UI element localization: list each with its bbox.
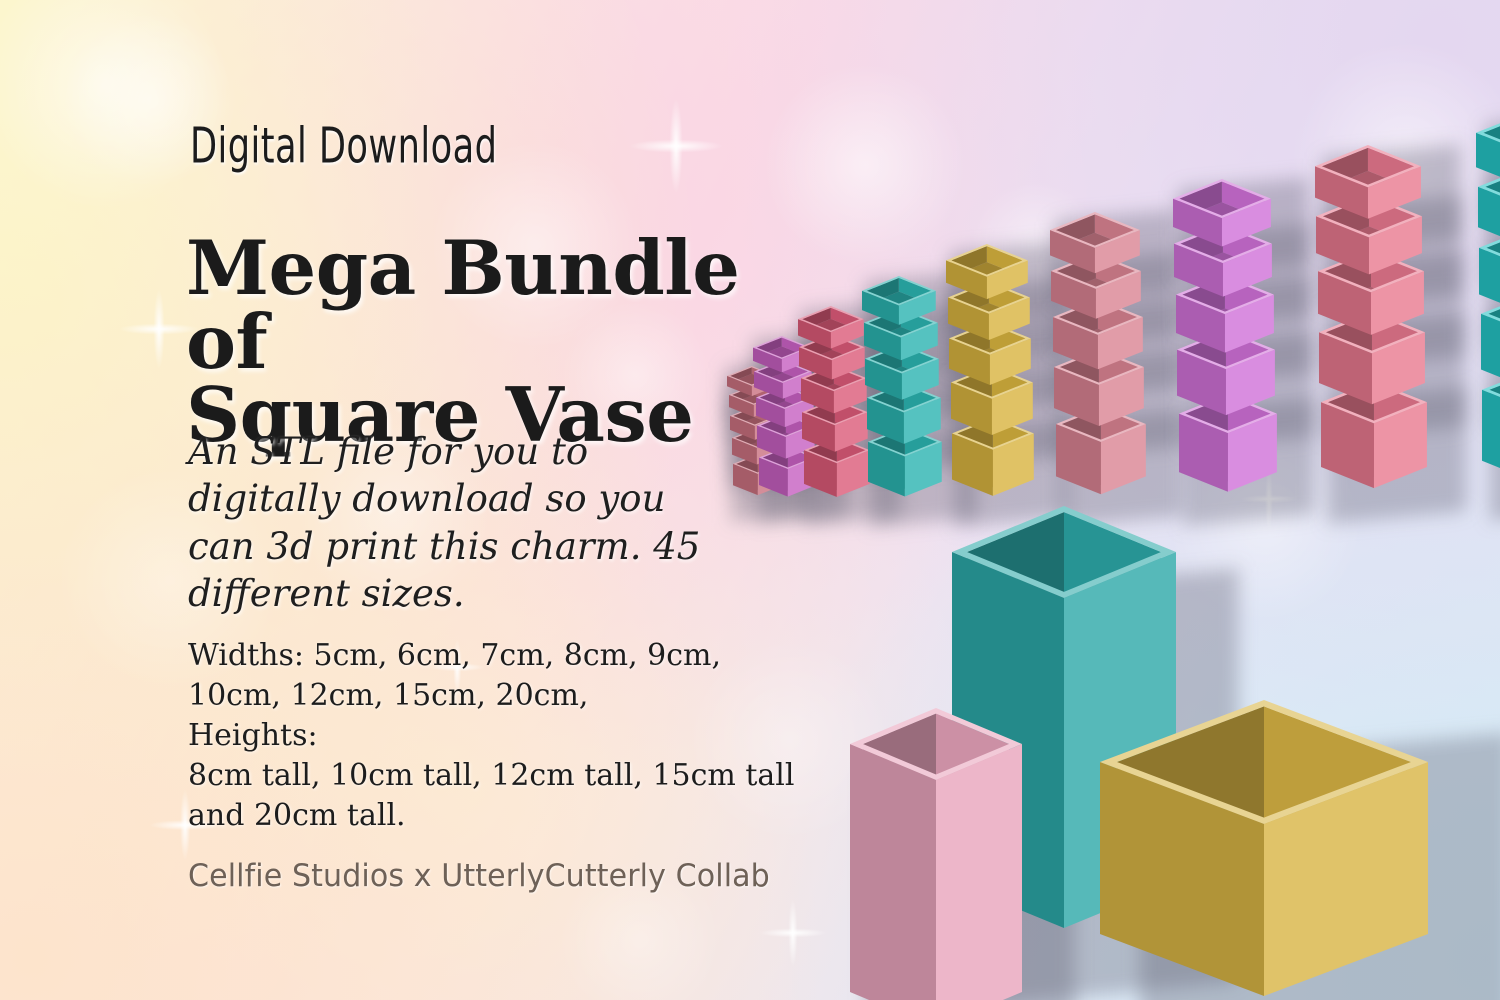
vase-rose-soft-8cm[interactable] [1036, 198, 1154, 287]
spec-heights-line-2: and 20cm tall. [188, 796, 848, 836]
product-description: An STL file for you to digitally downloa… [188, 428, 708, 617]
wide-gold-square-vase[interactable] [1086, 686, 1442, 1000]
vase-orchid-8cm[interactable] [1159, 165, 1285, 261]
page-title: Mega Bundle of Square Vase [186, 232, 806, 453]
product-poster: Digital Download Mega Bundle of Square V… [0, 0, 1500, 1000]
size-spec-list: Widths: 5cm, 6cm, 7cm, 8cm, 9cm, 10cm, 1… [188, 636, 848, 835]
vase-gold-8cm[interactable] [932, 230, 1042, 313]
vase-cyan-8cm[interactable] [1462, 96, 1500, 204]
spec-heights-label: Heights: [188, 716, 848, 756]
title-line-1: Mega Bundle of [186, 224, 739, 386]
spec-widths-line-2: 10cm, 12cm, 15cm, 20cm, [188, 676, 848, 716]
kicker-label: Digital Download [190, 118, 497, 175]
spec-heights-line-1: 8cm tall, 10cm tall, 12cm tall, 15cm tal… [188, 756, 848, 796]
vase-salmon-8cm[interactable] [1301, 131, 1435, 233]
spec-widths-line-1: Widths: 5cm, 6cm, 7cm, 8cm, 9cm, [188, 636, 848, 676]
medium-pink-square-vase[interactable] [836, 694, 1036, 1000]
brand-credit: Cellfie Studios x UtterlyCutterly Collab [188, 858, 770, 894]
